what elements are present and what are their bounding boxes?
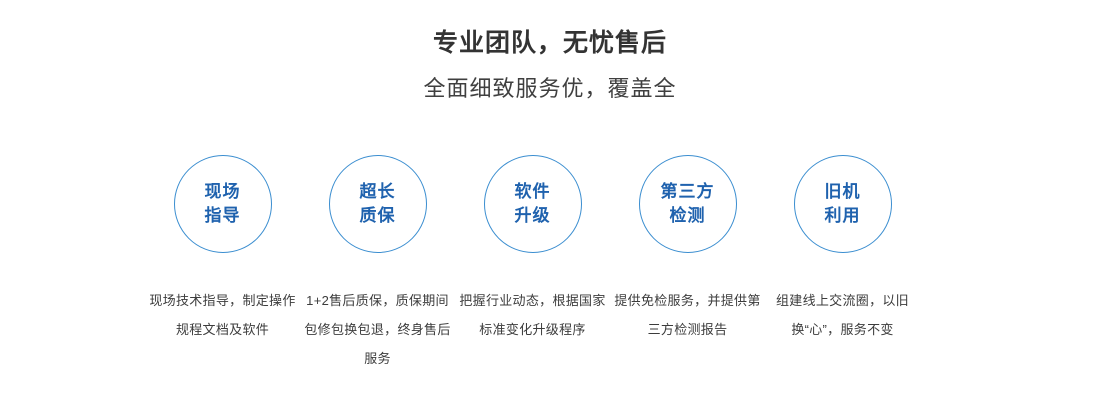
feature-item-onsite-guidance[interactable]: 现场 指导 现场技术指导，制定操作规程文档及软件 xyxy=(145,155,300,344)
feature-title-line1: 软件 xyxy=(515,180,551,204)
feature-title-line2: 指导 xyxy=(205,204,241,228)
feature-title-line1: 旧机 xyxy=(825,180,861,204)
feature-title-line1: 现场 xyxy=(205,180,241,204)
feature-caption: 组建线上交流圈，以旧换“心”，服务不变 xyxy=(767,286,919,344)
feature-title-line1: 超长 xyxy=(360,180,396,204)
feature-title-line2: 检测 xyxy=(670,204,706,228)
feature-caption: 提供免检服务，并提供第三方检测报告 xyxy=(612,286,764,344)
feature-item-third-party-testing[interactable]: 第三方 检测 提供免检服务，并提供第三方检测报告 xyxy=(610,155,765,344)
feature-item-extended-warranty[interactable]: 超长 质保 1+2售后质保，质保期间包修包换包退，终身售后服务 xyxy=(300,155,455,373)
page-title: 专业团队，无忧售后 xyxy=(0,26,1100,60)
feature-caption: 1+2售后质保，质保期间包修包换包退，终身售后服务 xyxy=(302,286,454,373)
feature-circle[interactable]: 现场 指导 xyxy=(174,155,272,253)
feature-list: 现场 指导 现场技术指导，制定操作规程文档及软件 超长 质保 1+2售后质保，质… xyxy=(145,155,955,373)
heading-block: 专业团队，无忧售后 全面细致服务优，覆盖全 xyxy=(0,26,1100,104)
feature-circle[interactable]: 旧机 利用 xyxy=(794,155,892,253)
feature-item-old-machine-reuse[interactable]: 旧机 利用 组建线上交流圈，以旧换“心”，服务不变 xyxy=(765,155,920,344)
feature-title-line2: 利用 xyxy=(825,204,861,228)
feature-caption: 把握行业动态，根据国家标准变化升级程序 xyxy=(457,286,609,344)
feature-circle[interactable]: 第三方 检测 xyxy=(639,155,737,253)
feature-circle[interactable]: 超长 质保 xyxy=(329,155,427,253)
feature-title-line1: 第三方 xyxy=(661,180,715,204)
feature-item-software-upgrade[interactable]: 软件 升级 把握行业动态，根据国家标准变化升级程序 xyxy=(455,155,610,344)
feature-title-line2: 升级 xyxy=(515,204,551,228)
feature-circle[interactable]: 软件 升级 xyxy=(484,155,582,253)
page-subtitle: 全面细致服务优，覆盖全 xyxy=(0,74,1100,104)
service-promo-banner: 专业团队，无忧售后 全面细致服务优，覆盖全 现场 指导 现场技术指导，制定操作规… xyxy=(0,0,1100,404)
feature-caption: 现场技术指导，制定操作规程文档及软件 xyxy=(147,286,299,344)
feature-title-line2: 质保 xyxy=(360,204,396,228)
